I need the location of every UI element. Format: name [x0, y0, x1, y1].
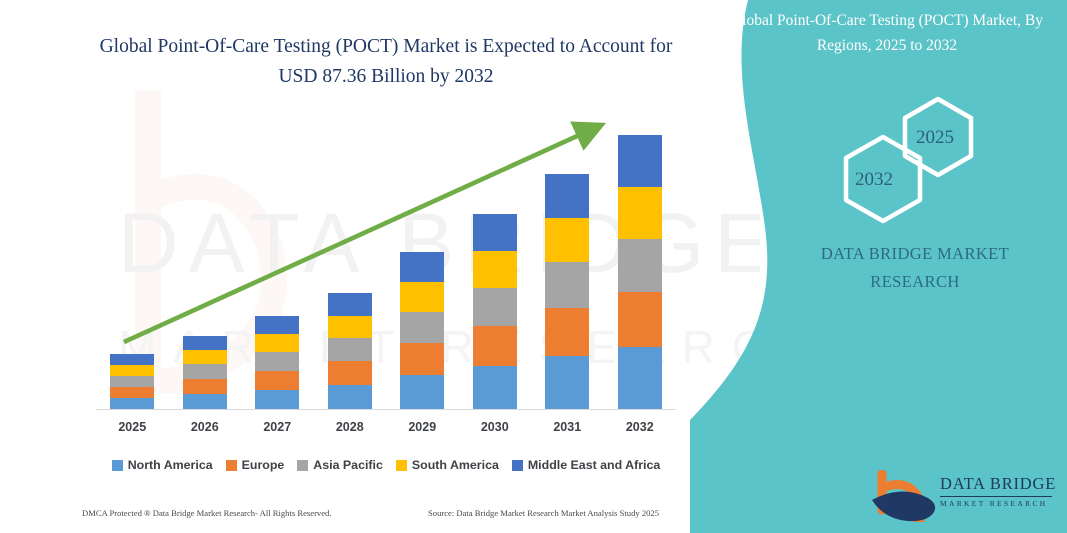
segment-2030-north-america[interactable]: [473, 366, 517, 409]
x-tick-2025: 2025: [102, 420, 162, 434]
segment-2025-europe[interactable]: [110, 387, 154, 398]
segment-2032-south-america[interactable]: [618, 187, 662, 239]
axis-baseline: [96, 409, 676, 410]
legend-item-asia-pacific[interactable]: Asia Pacific: [297, 458, 383, 472]
legend-label: South America: [412, 458, 499, 472]
footer-copyright: DMCA Protected ® Data Bridge Market Rese…: [82, 508, 332, 518]
segment-2031-asia-pacific[interactable]: [545, 262, 589, 308]
segment-2030-middle-east-and-africa[interactable]: [473, 214, 517, 251]
segment-2027-europe[interactable]: [255, 371, 299, 390]
segment-2028-middle-east-and-africa[interactable]: [328, 293, 372, 316]
chart-legend: North AmericaEuropeAsia PacificSouth Ame…: [96, 455, 676, 475]
hexagon-group: 2025 2032: [820, 95, 1000, 225]
panel-brand: DATA BRIDGE MARKET RESEARCH: [790, 240, 1040, 296]
segment-2031-south-america[interactable]: [545, 218, 589, 262]
bar-2027[interactable]: [255, 316, 299, 409]
x-axis-labels: 20252026202720282029203020312032: [96, 414, 676, 440]
segment-2025-north-america[interactable]: [110, 398, 154, 409]
segment-2027-asia-pacific[interactable]: [255, 352, 299, 371]
x-tick-2030: 2030: [465, 420, 525, 434]
bar-2028[interactable]: [328, 293, 372, 409]
segment-2031-europe[interactable]: [545, 308, 589, 356]
chart-pane: DATA BRIDGE MARKET RESEARCH Global Point…: [0, 0, 760, 533]
segment-2032-north-america[interactable]: [618, 347, 662, 409]
segment-2029-north-america[interactable]: [400, 375, 444, 409]
legend-item-europe[interactable]: Europe: [226, 458, 285, 472]
segment-2028-europe[interactable]: [328, 361, 372, 385]
x-tick-2031: 2031: [537, 420, 597, 434]
legend-swatch-icon: [297, 460, 308, 471]
x-tick-2028: 2028: [320, 420, 380, 434]
hexagon-2032-label: 2032: [855, 169, 893, 191]
bar-2025[interactable]: [110, 354, 154, 409]
segment-2026-asia-pacific[interactable]: [183, 364, 227, 379]
legend-swatch-icon: [512, 460, 523, 471]
segment-2029-south-america[interactable]: [400, 282, 444, 312]
segment-2032-asia-pacific[interactable]: [618, 239, 662, 292]
bar-2032[interactable]: [618, 135, 662, 409]
legend-swatch-icon: [396, 460, 407, 471]
segment-2030-south-america[interactable]: [473, 251, 517, 288]
x-tick-2032: 2032: [610, 420, 670, 434]
logo-line2: MARKET RESEARCH: [940, 499, 1060, 508]
segment-2027-north-america[interactable]: [255, 390, 299, 409]
bar-chart-plot: [96, 110, 676, 410]
legend-label: Middle East and Africa: [528, 458, 660, 472]
x-tick-2029: 2029: [392, 420, 452, 434]
segment-2031-middle-east-and-africa[interactable]: [545, 174, 589, 218]
panel-brand-line2: RESEARCH: [790, 268, 1040, 296]
bar-2029[interactable]: [400, 252, 444, 409]
segment-2026-middle-east-and-africa[interactable]: [183, 336, 227, 350]
segment-2026-south-america[interactable]: [183, 350, 227, 364]
bar-2031[interactable]: [545, 174, 589, 409]
x-tick-2027: 2027: [247, 420, 307, 434]
logo-line1: DATA BRIDGE: [940, 474, 1060, 494]
legend-item-north-america[interactable]: North America: [112, 458, 213, 472]
segment-2029-middle-east-and-africa[interactable]: [400, 252, 444, 282]
legend-label: North America: [128, 458, 213, 472]
segment-2025-south-america[interactable]: [110, 365, 154, 376]
legend-label: Asia Pacific: [313, 458, 383, 472]
hexagon-2025-label: 2025: [916, 127, 954, 149]
data-bridge-logo-text: DATA BRIDGE MARKET RESEARCH: [940, 474, 1060, 508]
segment-2028-north-america[interactable]: [328, 385, 372, 409]
segment-2029-europe[interactable]: [400, 343, 444, 375]
legend-swatch-icon: [226, 460, 237, 471]
segment-2026-europe[interactable]: [183, 379, 227, 394]
bar-2030[interactable]: [473, 214, 517, 409]
segment-2026-north-america[interactable]: [183, 394, 227, 409]
segment-2025-asia-pacific[interactable]: [110, 376, 154, 387]
legend-swatch-icon: [112, 460, 123, 471]
segment-2028-asia-pacific[interactable]: [328, 338, 372, 361]
segment-2025-middle-east-and-africa[interactable]: [110, 354, 154, 365]
footer-source: Source: Data Bridge Market Research Mark…: [428, 508, 659, 518]
segment-2032-europe[interactable]: [618, 292, 662, 347]
infographic-root: DATA BRIDGE MARKET RESEARCH Global Point…: [0, 0, 1067, 533]
segment-2032-middle-east-and-africa[interactable]: [618, 135, 662, 187]
segment-2027-middle-east-and-africa[interactable]: [255, 316, 299, 334]
segment-2031-north-america[interactable]: [545, 356, 589, 409]
x-tick-2026: 2026: [175, 420, 235, 434]
legend-label: Europe: [242, 458, 285, 472]
legend-item-middle-east-and-africa[interactable]: Middle East and Africa: [512, 458, 660, 472]
legend-item-south-america[interactable]: South America: [396, 458, 499, 472]
segment-2030-europe[interactable]: [473, 326, 517, 366]
segment-2028-south-america[interactable]: [328, 316, 372, 338]
page-title: Global Point-Of-Care Testing (POCT) Mark…: [96, 32, 676, 92]
hexagon-shapes: [820, 95, 1000, 225]
segment-2029-asia-pacific[interactable]: [400, 312, 444, 343]
panel-brand-line1: DATA BRIDGE MARKET: [790, 240, 1040, 268]
logo-divider: [940, 496, 1052, 497]
segment-2027-south-america[interactable]: [255, 334, 299, 352]
bar-2026[interactable]: [183, 336, 227, 409]
segment-2030-asia-pacific[interactable]: [473, 288, 517, 326]
panel-title: Global Point-Of-Care Testing (POCT) Mark…: [722, 8, 1052, 58]
footer: DMCA Protected ® Data Bridge Market Rese…: [0, 500, 760, 533]
